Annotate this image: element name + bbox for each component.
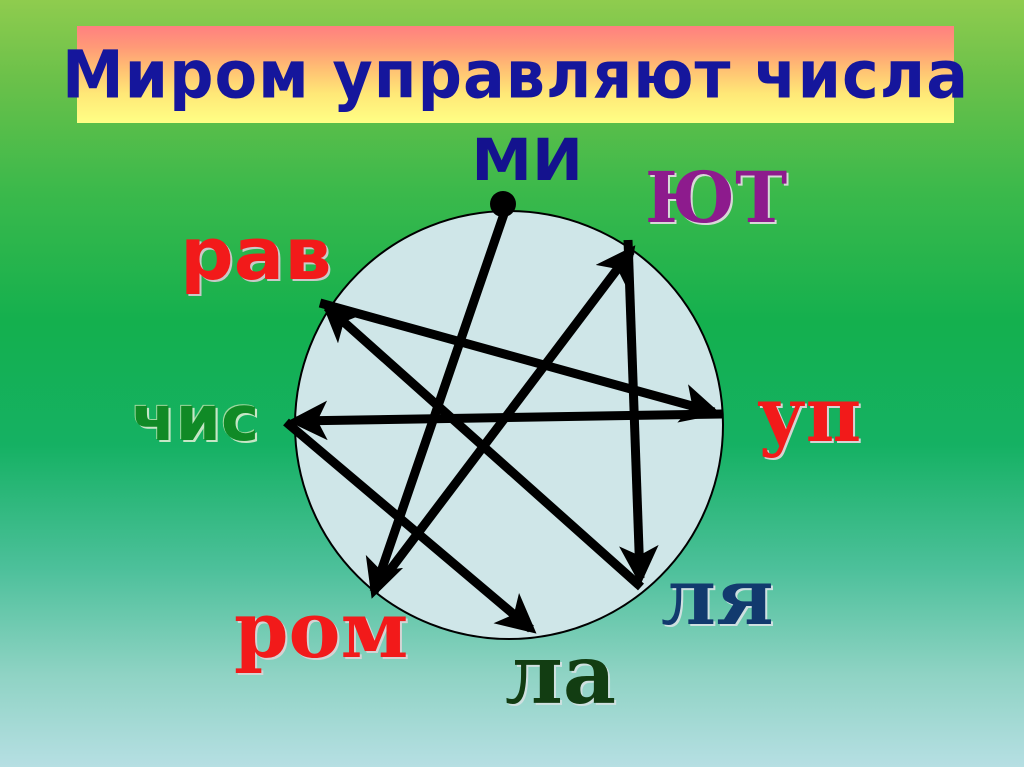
diagram-circle [295,211,723,639]
slide-canvas: Миром управляют числа МИ [0,0,1024,767]
label-chis: чис [132,388,260,450]
label-up: уп [757,377,861,453]
label-lya: ля [661,559,774,637]
label-rom: ром [234,592,408,670]
label-la: ла [505,634,616,716]
label-rav: рав [180,218,332,290]
start-point-dot [490,191,516,217]
label-yut: ЮТ [645,163,787,233]
label-mi: МИ [471,131,583,189]
